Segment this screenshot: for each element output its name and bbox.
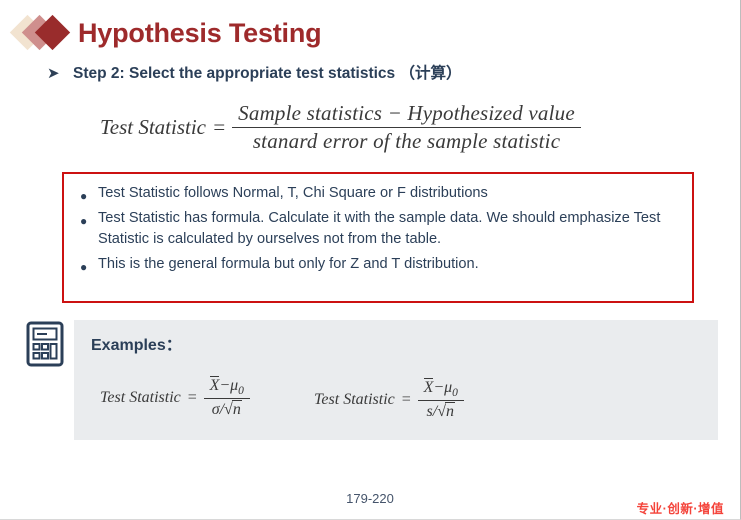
list-item-text: This is the general formula but only for… [98, 254, 479, 276]
minus-symbol: − [433, 379, 444, 396]
main-formula-numerator: Sample statistics − Hypothesized value [232, 101, 581, 128]
list-item: Test Statistic has formula. Calculate it… [80, 208, 678, 251]
page-number: 179-220 [0, 491, 740, 506]
page-title: Hypothesis Testing [78, 20, 321, 47]
circle-bullet-icon [80, 183, 98, 202]
mu-subscript: 0 [452, 387, 458, 399]
example-1-fraction: X−μ0 σ/√n [204, 376, 250, 419]
three-diamonds-icon [14, 13, 76, 53]
example-2-numerator: X−μ0 [418, 378, 464, 401]
calculator-icon [26, 321, 64, 367]
main-formula-denominator: stanard error of the sample statistic [247, 128, 566, 154]
example-1-numerator: X−μ0 [204, 376, 250, 399]
step-heading: ➤ Step 2: Select the appropriate test st… [47, 66, 461, 82]
example-2-equals: = [401, 391, 412, 409]
example-2-fraction: X−μ0 s/√n [418, 378, 464, 421]
sigma-symbol: σ [212, 401, 220, 418]
circle-bullet-icon [80, 208, 98, 227]
example-1-denominator: σ/√n [206, 399, 248, 419]
main-formula-lhs: Test Statistic [100, 115, 206, 140]
list-item-text: Test Statistic has formula. Calculate it… [98, 208, 678, 251]
example-formula-1: Test Statistic = X−μ0 σ/√n [100, 376, 252, 419]
mu-symbol: μ [444, 379, 452, 396]
examples-panel: Examples： Test Statistic = X−μ0 σ/√n Tes… [74, 320, 718, 440]
list-item-text: Test Statistic follows Normal, T, Chi Sq… [98, 183, 488, 205]
circle-bullet-icon [80, 254, 98, 273]
x-bar-symbol: X [210, 376, 220, 394]
mu-symbol: μ [230, 377, 238, 394]
step-heading-label: Step 2: Select the appropriate test stat… [73, 66, 461, 82]
x-bar-symbol: X [424, 378, 434, 396]
example-2-lhs: Test Statistic [314, 391, 395, 409]
example-1-equals: = [187, 389, 198, 407]
highlight-bullet-list: Test Statistic follows Normal, T, Chi Sq… [64, 174, 692, 275]
slide-title-row: Hypothesis Testing [14, 11, 321, 55]
sqrt-group: √n [224, 400, 242, 419]
example-1-lhs: Test Statistic [100, 389, 181, 407]
slide: Hypothesis Testing ➤ Step 2: Select the … [0, 0, 741, 520]
examples-label: Examples： [91, 331, 182, 355]
arrow-bullet-icon: ➤ [47, 66, 73, 81]
highlight-box: Test Statistic follows Normal, T, Chi Sq… [62, 172, 694, 303]
example-2-denominator: s/√n [421, 401, 461, 421]
main-formula-equals: = [212, 115, 226, 140]
radicand-n: n [232, 400, 242, 419]
main-formula: Test Statistic = Sample statistics − Hyp… [100, 101, 583, 154]
example-formula-2: Test Statistic = X−μ0 s/√n [314, 378, 466, 421]
list-item: Test Statistic follows Normal, T, Chi Sq… [80, 183, 678, 205]
radicand-n: n [445, 402, 455, 421]
minus-symbol: − [219, 377, 230, 394]
main-formula-fraction: Sample statistics − Hypothesized value s… [232, 101, 581, 154]
list-item: This is the general formula but only for… [80, 254, 678, 276]
mu-subscript: 0 [238, 385, 244, 397]
sqrt-group: √n [437, 402, 455, 421]
brand-tagline: 专业·创新·增值 [637, 498, 724, 517]
